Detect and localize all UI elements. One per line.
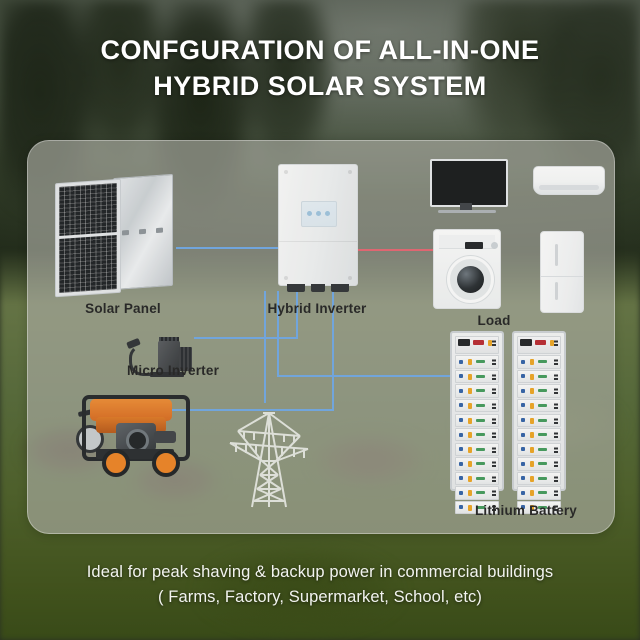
module-indicator	[459, 403, 463, 407]
battery-module	[455, 486, 499, 499]
module-indicator	[521, 476, 525, 480]
module-stripe	[476, 404, 485, 407]
battery-rack	[450, 331, 504, 491]
television-screen	[430, 159, 508, 207]
bms-connector	[535, 340, 546, 345]
module-terminals	[492, 373, 496, 380]
battery-module	[455, 384, 499, 397]
battery-module	[517, 457, 561, 470]
wire-battery-horizontal	[277, 375, 451, 377]
inverter-display	[301, 201, 337, 227]
module-terminals	[554, 358, 558, 365]
module-indicator	[530, 418, 534, 424]
battery-module	[455, 472, 499, 485]
wire-solar-to-inverter	[176, 247, 280, 249]
module-terminals	[554, 475, 558, 482]
washing-machine-door	[447, 256, 494, 303]
module-stripe	[538, 477, 547, 480]
module-indicator	[530, 388, 534, 394]
module-terminals	[492, 460, 496, 467]
battery-module	[517, 355, 561, 368]
bms-connector	[473, 340, 484, 345]
battery-module	[455, 443, 499, 456]
module-terminals	[554, 387, 558, 394]
module-indicator	[530, 403, 534, 409]
module-indicator	[530, 447, 534, 453]
inverter-connector	[311, 284, 325, 292]
module-terminals	[492, 358, 496, 365]
battery-module	[517, 384, 561, 397]
battery-module	[517, 428, 561, 441]
inverter-connector	[287, 284, 305, 292]
refrigerator-handle	[555, 244, 558, 266]
solar-panel-rear-module	[113, 174, 173, 290]
module-indicator	[459, 418, 463, 422]
module-indicator	[459, 491, 463, 495]
washing-machine	[433, 229, 501, 309]
bms-terminals	[554, 339, 558, 346]
inverter-seam	[279, 241, 357, 242]
page-title-line-2: HYBRID SOLAR SYSTEM	[0, 68, 640, 104]
bms-display	[520, 339, 532, 346]
solar-panel-front-module	[55, 179, 121, 298]
battery-module	[455, 370, 499, 383]
module-indicator	[468, 374, 472, 380]
module-stripe	[476, 433, 485, 436]
module-stripe	[476, 462, 485, 465]
module-terminals	[554, 373, 558, 380]
wire-microinverter-horizontal	[194, 337, 298, 339]
screw-icon	[348, 276, 352, 280]
module-terminals	[554, 489, 558, 496]
module-terminals	[492, 475, 496, 482]
module-stripe	[476, 375, 485, 378]
module-stripe	[538, 419, 547, 422]
module-indicator	[459, 447, 463, 451]
module-indicator	[468, 388, 472, 394]
generator-wheel	[152, 449, 180, 477]
inverter-indicator-icon	[316, 211, 321, 216]
bms-terminals	[492, 339, 496, 346]
module-indicator	[468, 476, 472, 482]
module-indicator	[468, 418, 472, 424]
module-stripe	[538, 360, 547, 363]
module-indicator	[521, 433, 525, 437]
battery-module	[517, 414, 561, 427]
battery-module	[455, 428, 499, 441]
module-indicator	[468, 447, 472, 453]
module-terminals	[554, 402, 558, 409]
module-indicator	[530, 432, 534, 438]
label-load: Load	[434, 313, 554, 328]
module-terminals	[492, 446, 496, 453]
battery-module	[455, 355, 499, 368]
battery-module	[455, 399, 499, 412]
module-terminals	[554, 446, 558, 453]
refrigerator-divider	[541, 276, 583, 277]
grid-transmission-tower	[216, 403, 322, 511]
washing-machine-display	[465, 242, 483, 249]
module-indicator	[459, 433, 463, 437]
screw-icon	[348, 170, 352, 174]
refrigerator	[540, 231, 584, 313]
module-terminals	[492, 402, 496, 409]
washing-machine-knob	[491, 242, 498, 249]
generator-muffler	[154, 431, 176, 443]
inverter-connector	[331, 284, 349, 292]
battery-bms-module	[517, 336, 561, 354]
footer-line-2: ( Farms, Factory, Supermarket, School, e…	[0, 585, 640, 610]
module-indicator	[521, 403, 525, 407]
module-indicator	[530, 359, 534, 365]
module-indicator	[459, 462, 463, 466]
inverter-indicator-icon	[307, 211, 312, 216]
module-indicator	[459, 374, 463, 378]
module-terminals	[492, 417, 496, 424]
module-terminals	[554, 431, 558, 438]
module-indicator	[530, 490, 534, 496]
module-stripe	[476, 389, 485, 392]
module-indicator	[459, 476, 463, 480]
battery-rack	[512, 331, 566, 491]
hybrid-inverter	[278, 164, 358, 286]
label-solar-panel: Solar Panel	[58, 301, 188, 316]
label-micro-inverter: Micro Inverter	[88, 363, 258, 378]
diagram-panel: Solar Panel Hybrid Inverter	[27, 140, 615, 534]
battery-module	[517, 486, 561, 499]
module-indicator	[468, 461, 472, 467]
inverter-indicator-icon	[325, 211, 330, 216]
module-terminals	[492, 489, 496, 496]
module-indicator	[521, 462, 525, 466]
module-indicator	[521, 447, 525, 451]
pylon-icon	[216, 403, 322, 511]
footer-line-1: Ideal for peak shaving & backup power in…	[87, 563, 554, 581]
washing-machine-control-panel	[439, 235, 495, 249]
module-stripe	[538, 375, 547, 378]
air-conditioner-vent	[539, 185, 599, 190]
diesel-generator	[76, 391, 188, 471]
module-indicator	[530, 476, 534, 482]
wire-inverter-to-load	[356, 249, 434, 251]
module-indicator	[468, 359, 472, 365]
battery-module	[517, 399, 561, 412]
module-indicator	[521, 389, 525, 393]
television-stand-base	[438, 210, 496, 213]
module-stripe	[538, 491, 547, 494]
washing-machine-glass	[457, 266, 484, 293]
module-stripe	[538, 389, 547, 392]
bms-display	[458, 339, 470, 346]
module-terminals	[492, 431, 496, 438]
module-indicator	[521, 491, 525, 495]
module-stripe	[538, 433, 547, 436]
module-stripe	[476, 448, 485, 451]
module-stripe	[538, 462, 547, 465]
module-terminals	[554, 460, 558, 467]
junction-box-icon	[156, 228, 163, 233]
battery-module	[517, 443, 561, 456]
junction-box-icon	[122, 230, 129, 235]
generator-wheel	[102, 449, 130, 477]
refrigerator-handle	[555, 282, 558, 300]
screw-icon	[284, 276, 288, 280]
module-stripe	[476, 360, 485, 363]
label-lithium-battery: Lithium Battery	[426, 503, 615, 518]
module-stripe	[476, 477, 485, 480]
diagram-canvas: Solar Panel Hybrid Inverter	[28, 141, 614, 533]
module-indicator	[521, 360, 525, 364]
battery-module	[455, 457, 499, 470]
module-terminals	[492, 387, 496, 394]
air-conditioner	[533, 166, 605, 195]
module-stripe	[538, 448, 547, 451]
module-stripe	[538, 404, 547, 407]
battery-module	[517, 370, 561, 383]
battery-module	[517, 472, 561, 485]
battery-module	[455, 414, 499, 427]
junction-box-icon	[139, 229, 146, 234]
module-indicator	[468, 490, 472, 496]
module-stripe	[476, 419, 485, 422]
battery-bms-module	[455, 336, 499, 354]
label-hybrid-inverter: Hybrid Inverter	[237, 301, 397, 316]
module-indicator	[459, 389, 463, 393]
module-indicator	[530, 461, 534, 467]
module-indicator	[521, 418, 525, 422]
module-indicator	[521, 374, 525, 378]
page-title: CONFGURATION OF ALL-IN-ONE HYBRID SOLAR …	[0, 32, 640, 104]
module-stripe	[476, 491, 485, 494]
page-title-line-1: CONFGURATION OF ALL-IN-ONE	[101, 35, 540, 65]
module-indicator	[468, 432, 472, 438]
footer-caption: Ideal for peak shaving & backup power in…	[0, 560, 640, 610]
module-indicator	[459, 360, 463, 364]
module-indicator	[468, 403, 472, 409]
module-indicator	[530, 374, 534, 380]
infographic-root: CONFGURATION OF ALL-IN-ONE HYBRID SOLAR …	[0, 0, 640, 640]
screw-icon	[284, 170, 288, 174]
module-terminals	[554, 417, 558, 424]
